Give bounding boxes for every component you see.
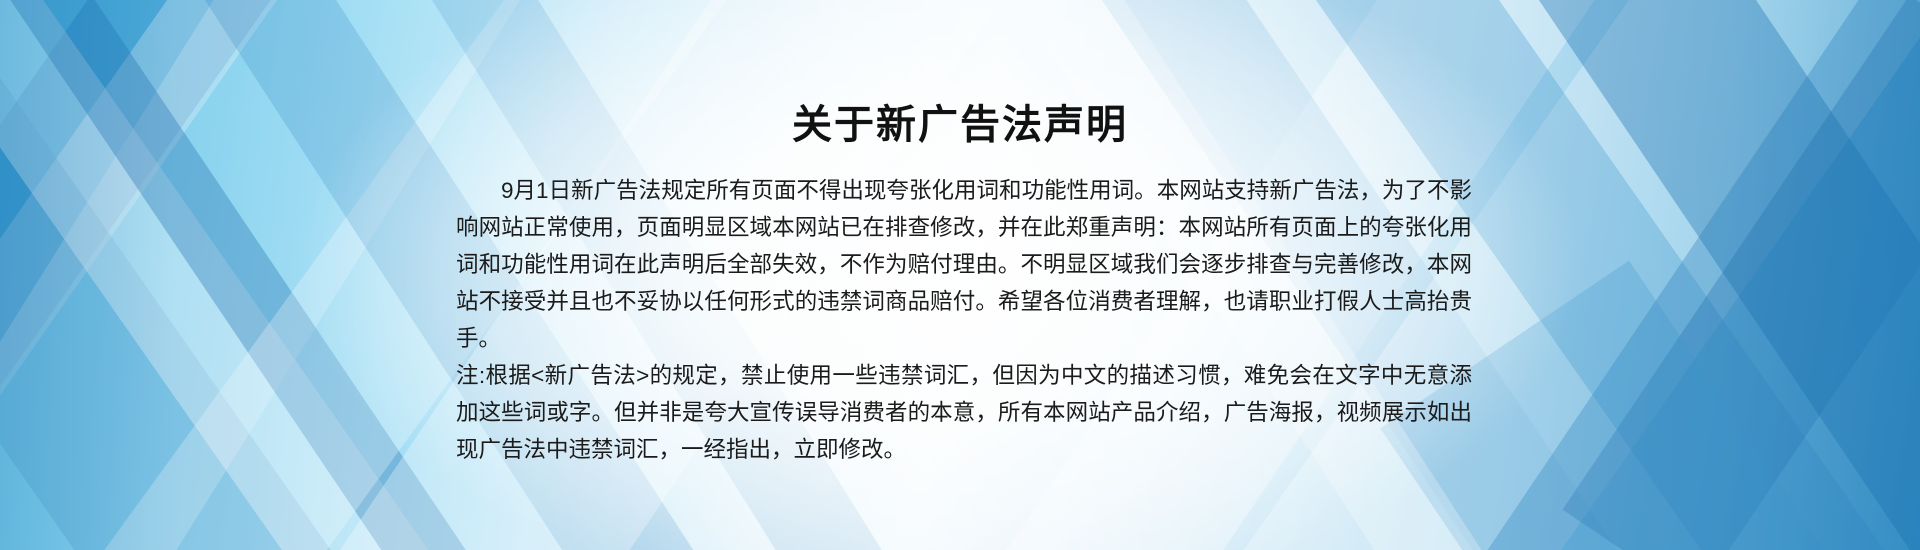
advertising-law-statement-banner: 关于新广告法声明 9月1日新广告法规定所有页面不得出现夸张化用词和功能性用词。本… <box>0 0 1920 550</box>
statement-paragraph-2: 注:根据<新广告法>的规定，禁止使用一些违禁词汇，但因为中文的描述习惯，难免会在… <box>456 357 1472 468</box>
statement-body: 9月1日新广告法规定所有页面不得出现夸张化用词和功能性用词。本网站支持新广告法，… <box>456 172 1472 468</box>
statement-content: 关于新广告法声明 9月1日新广告法规定所有页面不得出现夸张化用词和功能性用词。本… <box>0 0 1920 550</box>
statement-paragraph-1: 9月1日新广告法规定所有页面不得出现夸张化用词和功能性用词。本网站支持新广告法，… <box>456 172 1472 357</box>
page-title: 关于新广告法声明 <box>0 92 1920 150</box>
